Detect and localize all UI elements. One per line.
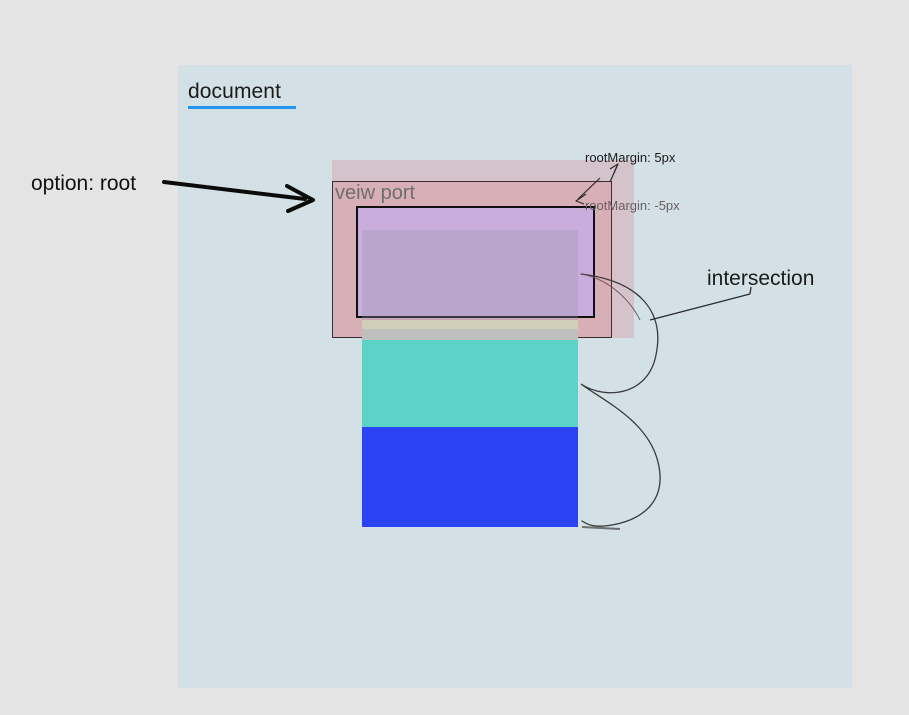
teal-box [362, 340, 578, 427]
intersection-label: intersection [707, 267, 814, 291]
khaki-strip [362, 320, 578, 329]
grey-strip [362, 329, 578, 340]
viewport-label: veiw port [335, 182, 415, 205]
root-margin-positive-label: rootMargin: 5px [585, 150, 675, 165]
intersection-overlay [362, 230, 578, 320]
root-margin-negative-label: rootMargin: -5px [585, 198, 680, 213]
document-label: document [188, 80, 281, 104]
document-label-underline [188, 106, 296, 109]
blue-box [362, 427, 578, 527]
option-root-label: option: root [31, 172, 136, 196]
diagram-canvas: document veiw port option: root rootMarg… [0, 0, 909, 715]
